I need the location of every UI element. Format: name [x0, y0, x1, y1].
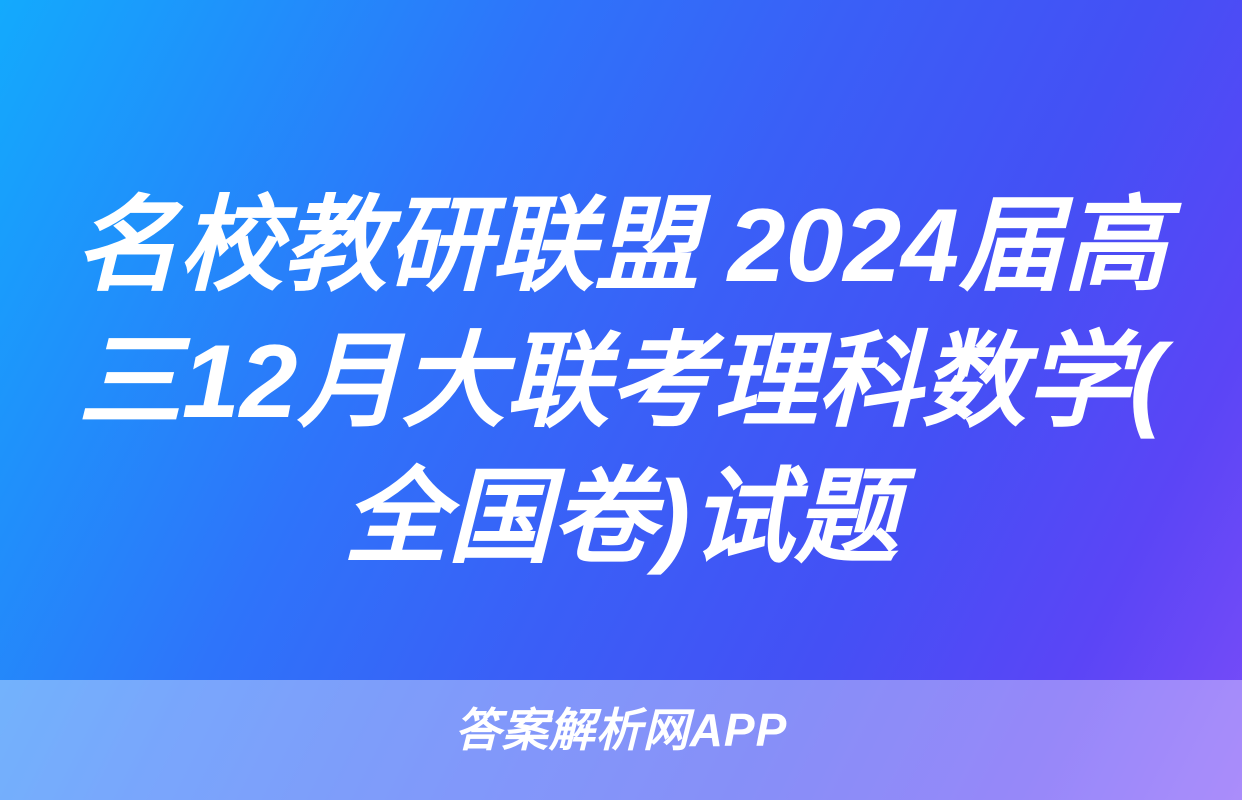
page-title: 名校教研联盟 2024届高 三12月大联考理科数学( 全国卷)试题 [0, 178, 1242, 586]
title-line-1: 名校教研联盟 2024届高 [40, 178, 1202, 314]
title-line-3: 全国卷)试题 [40, 450, 1202, 586]
watermark-brand-label: 答案解析网APP [0, 702, 1242, 758]
title-line-2: 三12月大联考理科数学( [40, 314, 1202, 450]
exam-paper-cover-poster: 名校教研联盟 2024届高 三12月大联考理科数学( 全国卷)试题 答案解析网A… [0, 0, 1242, 800]
